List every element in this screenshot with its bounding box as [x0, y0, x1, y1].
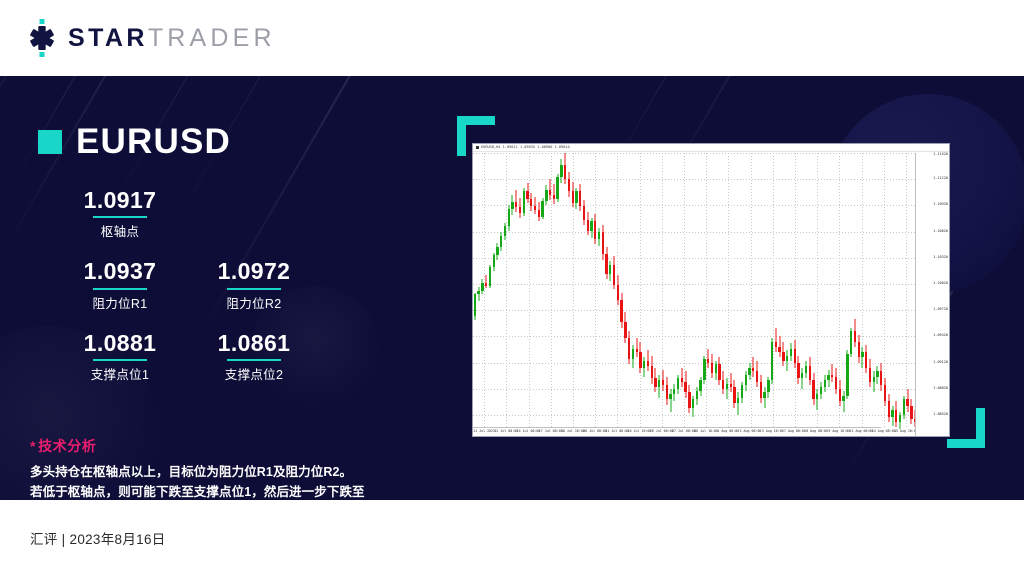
- candlestick: [861, 153, 863, 429]
- candlestick: [760, 153, 762, 429]
- candlestick: [824, 153, 826, 429]
- candlestick: [620, 153, 622, 429]
- level-support-1-value: 1.0881: [84, 330, 157, 356]
- brand-name-light: TRADER: [148, 24, 276, 52]
- candlestick: [594, 153, 596, 429]
- brand-wordmark: STARTRADER: [68, 26, 276, 51]
- level-underline: [93, 288, 147, 290]
- streak-line: [0, 76, 41, 224]
- candlestick: [519, 153, 521, 429]
- candlestick: [609, 153, 611, 429]
- candlestick: [812, 153, 814, 429]
- candlestick: [771, 153, 773, 429]
- candlestick: [481, 153, 483, 429]
- candlestick: [568, 153, 570, 429]
- candlestick: [538, 153, 540, 429]
- star-asterisk-icon: [25, 19, 59, 57]
- instrument-title-row: EURUSD: [38, 124, 433, 159]
- time-tick-label: 20 Jul 00:00: [583, 430, 607, 433]
- level-support-2: 1.0861 支撑点位2: [194, 330, 314, 383]
- candlestick: [884, 153, 886, 429]
- candlestick: [756, 153, 758, 429]
- candlestick: [669, 153, 671, 429]
- time-tick-label: 14 Aug 08:00: [872, 430, 896, 433]
- time-tick-label: 26 Jul 00:00: [650, 430, 674, 433]
- candlestick: [575, 153, 577, 429]
- candlestick: [767, 153, 769, 429]
- candlestick: [699, 153, 701, 429]
- time-tick-label: 14 Jul 00:00: [517, 430, 541, 433]
- support-row: 1.0881 支撑点位1 1.0861 支撑点位2: [60, 330, 433, 383]
- candlestick: [511, 153, 513, 429]
- candlestick: [654, 153, 656, 429]
- candlestick: [707, 153, 709, 429]
- price-tick-label: 1.09120: [933, 361, 948, 365]
- candlestick: [602, 153, 604, 429]
- analysis-line-1: 多头持仓在枢轴点以上，目标位为阻力位R1及阻力位R2。: [30, 462, 430, 482]
- candlestick: [504, 153, 506, 429]
- chart-header: EURUSD,H4 1.09011 1.09035 1.08980 1.0901…: [473, 144, 949, 152]
- price-axis: 1.115201.112201.109201.106201.103201.100…: [915, 153, 949, 436]
- page-footer: 汇评 | 2023年8月16日: [0, 500, 1024, 576]
- candlestick: [658, 153, 660, 429]
- candlestick: [835, 153, 837, 429]
- time-tick-label: 18 Jul 16:00: [561, 430, 585, 433]
- candlestick: [850, 153, 852, 429]
- level-support-2-label: 支撑点位2: [225, 364, 283, 383]
- candlestick: [782, 153, 784, 429]
- candlestick: [598, 153, 600, 429]
- time-tick-label: 8 Aug 08:00: [806, 430, 828, 433]
- candlestick: [790, 153, 792, 429]
- candlestick: [587, 153, 589, 429]
- candlestick: [651, 153, 653, 429]
- chart-body: 11 Jul 202312 Jul 08:0014 Jul 00:0017 Ju…: [473, 153, 949, 436]
- candlestick: [613, 153, 615, 429]
- candlestick: [643, 153, 645, 429]
- level-underline: [93, 216, 147, 218]
- pivot-row: 1.0917 枢轴点: [60, 187, 433, 240]
- time-tick-label: 21 Jul 08:00: [605, 430, 629, 433]
- chart-window[interactable]: EURUSD,H4 1.09011 1.09035 1.08980 1.0901…: [472, 143, 950, 437]
- price-tick-label: 1.10920: [933, 203, 948, 207]
- level-support-1-label: 支撑点位1: [91, 364, 149, 383]
- candlestick: [839, 153, 841, 429]
- candlestick: [752, 153, 754, 429]
- candlestick: [865, 153, 867, 429]
- candlestick: [726, 153, 728, 429]
- candlestick: [858, 153, 860, 429]
- candlestick: [681, 153, 683, 429]
- candlestick: [474, 153, 476, 429]
- level-support-2-value: 1.0861: [218, 330, 291, 356]
- title-accent-square: [38, 130, 62, 154]
- candlestick: [508, 153, 510, 429]
- footer-caption: 汇评 | 2023年8月16日: [30, 528, 166, 548]
- candlestick: [632, 153, 634, 429]
- analysis-body: 多头持仓在枢轴点以上，目标位为阻力位R1及阻力位R2。 若低于枢轴点，则可能下跌…: [30, 462, 430, 500]
- level-resistance-1-label: 阻力位R1: [93, 293, 148, 312]
- candlestick: [477, 153, 479, 429]
- level-resistance-2-label: 阻力位R2: [227, 293, 282, 312]
- time-tick-label: 28 Jul 16:00: [694, 430, 718, 433]
- time-tick-label: 7 Aug 00:00: [784, 430, 806, 433]
- resistance-row: 1.0937 阻力位R1 1.0972 阻力位R2: [60, 258, 433, 311]
- candlestick: [666, 153, 668, 429]
- price-tick-label: 1.08820: [933, 387, 948, 391]
- candlestick-plot[interactable]: 11 Jul 202312 Jul 08:0014 Jul 00:0017 Ju…: [473, 153, 915, 436]
- candlestick: [684, 153, 686, 429]
- candlestick: [880, 153, 882, 429]
- candlestick: [647, 153, 649, 429]
- level-underline: [227, 359, 281, 361]
- time-tick-label: 15 Aug 16:00: [894, 430, 915, 433]
- price-tick-label: 1.10620: [933, 230, 948, 234]
- level-pivot-value: 1.0917: [84, 187, 157, 213]
- instrument-panel: EURUSD 1.0917 枢轴点 1.0937 阻力位R1 1.0972: [38, 124, 433, 383]
- candlestick: [639, 153, 641, 429]
- candlestick: [534, 153, 536, 429]
- price-tick-label: 1.11220: [933, 177, 948, 181]
- pivot-levels: 1.0917 枢轴点 1.0937 阻力位R1 1.0972 阻力位R2: [38, 187, 433, 383]
- price-tick-label: 1.09420: [933, 334, 948, 338]
- level-resistance-2: 1.0972 阻力位R2: [194, 258, 314, 311]
- analysis-heading: *技术分析: [30, 436, 430, 456]
- candlestick: [549, 153, 551, 429]
- candlestick: [673, 153, 675, 429]
- brand-logo[interactable]: STARTRADER: [25, 19, 276, 57]
- chart-title: EURUSD,H4 1.09011 1.09035 1.08980 1.0901…: [481, 146, 570, 150]
- candlestick: [556, 153, 558, 429]
- asterisk-marker: *: [30, 438, 36, 454]
- candlestick: [730, 153, 732, 429]
- price-tick-label: 1.11520: [933, 153, 948, 157]
- candlestick: [545, 153, 547, 429]
- page-header: STARTRADER: [0, 0, 1024, 76]
- level-support-1: 1.0881 支撑点位1: [60, 330, 180, 383]
- candlestick: [722, 153, 724, 429]
- candlestick: [711, 153, 713, 429]
- candlestick: [741, 153, 743, 429]
- candlestick: [778, 153, 780, 429]
- chart-menu-icon[interactable]: [476, 146, 479, 149]
- candlestick: [888, 153, 890, 429]
- candlestick: [910, 153, 912, 429]
- candlestick: [737, 153, 739, 429]
- candlestick: [579, 153, 581, 429]
- candlestick: [854, 153, 856, 429]
- candlestick: [564, 153, 566, 429]
- level-underline: [227, 288, 281, 290]
- candlestick: [794, 153, 796, 429]
- candlestick: [703, 153, 705, 429]
- time-tick-label: 12 Jul 08:00: [494, 430, 518, 433]
- candlestick: [797, 153, 799, 429]
- time-tick-label: 2 Aug 08:00: [740, 430, 762, 433]
- candlestick: [493, 153, 495, 429]
- candlestick: [899, 153, 901, 429]
- candlestick: [786, 153, 788, 429]
- candlestick: [906, 153, 908, 429]
- candlestick: [628, 153, 630, 429]
- time-tick-label: 11 Aug 00:00: [850, 430, 874, 433]
- level-resistance-1: 1.0937 阻力位R1: [60, 258, 180, 311]
- candlestick: [662, 153, 664, 429]
- candlestick: [489, 153, 491, 429]
- candlestick: [748, 153, 750, 429]
- price-tick-label: 1.10320: [933, 256, 948, 260]
- level-resistance-2-value: 1.0972: [218, 258, 291, 284]
- time-tick-label: 3 Aug 16:00: [762, 430, 784, 433]
- candlestick: [605, 153, 607, 429]
- time-tick-label: 24 Jul 16:00: [628, 430, 652, 433]
- candlestick: [733, 153, 735, 429]
- candlestick: [801, 153, 803, 429]
- candlestick: [775, 153, 777, 429]
- candlestick: [809, 153, 811, 429]
- candlestick: [553, 153, 555, 429]
- candlestick: [500, 153, 502, 429]
- candlestick: [617, 153, 619, 429]
- time-tick-label: 9 Aug 16:00: [828, 430, 850, 433]
- level-resistance-1-value: 1.0937: [84, 258, 157, 284]
- candlestick: [523, 153, 525, 429]
- time-tick-label: 27 Jul 08:00: [672, 430, 696, 433]
- candlestick: [624, 153, 626, 429]
- candlestick: [842, 153, 844, 429]
- time-tick-label: 11 Jul 2023: [473, 430, 495, 433]
- candlestick: [820, 153, 822, 429]
- candlestick: [715, 153, 717, 429]
- candlestick: [816, 153, 818, 429]
- corner-bracket-bottom-right: [947, 408, 985, 448]
- candlestick: [692, 153, 694, 429]
- candlestick: [891, 153, 893, 429]
- candlestick: [805, 153, 807, 429]
- price-tick-label: 1.09720: [933, 308, 948, 312]
- candlestick: [763, 153, 765, 429]
- price-tick-label: 1.08520: [933, 413, 948, 417]
- candlestick: [696, 153, 698, 429]
- candlestick: [496, 153, 498, 429]
- candlestick: [831, 153, 833, 429]
- candlestick: [636, 153, 638, 429]
- level-pivot: 1.0917 枢轴点: [60, 187, 180, 240]
- price-tick-label: 1.10020: [933, 282, 948, 286]
- candlestick: [869, 153, 871, 429]
- candlestick: [873, 153, 875, 429]
- candlestick: [827, 153, 829, 429]
- candlestick: [485, 153, 487, 429]
- level-pivot-label: 枢轴点: [101, 221, 139, 240]
- candlestick: [583, 153, 585, 429]
- time-tick-label: 17 Jul 08:00: [539, 430, 563, 433]
- analysis-heading-text: 技术分析: [38, 438, 96, 454]
- analysis-line-2: 若低于枢轴点，则可能下跌至支撑点位1，然后进一步下跌至: [30, 482, 430, 500]
- technical-analysis: *技术分析 多头持仓在枢轴点以上，目标位为阻力位R1及阻力位R2。 若低于枢轴点…: [30, 436, 430, 500]
- level-underline: [93, 359, 147, 361]
- candlestick: [560, 153, 562, 429]
- main-stage: EURUSD 1.0917 枢轴点 1.0937 阻力位R1 1.0972: [0, 76, 1024, 500]
- page-title: EURUSD: [76, 124, 231, 159]
- candlestick: [572, 153, 574, 429]
- candlestick: [745, 153, 747, 429]
- candlestick: [895, 153, 897, 429]
- candlestick: [526, 153, 528, 429]
- candlestick: [688, 153, 690, 429]
- brand-name-bold: STAR: [68, 24, 148, 52]
- candlestick: [903, 153, 905, 429]
- candlestick: [846, 153, 848, 429]
- candlestick: [718, 153, 720, 429]
- candlestick: [677, 153, 679, 429]
- candlestick: [876, 153, 878, 429]
- candlestick: [515, 153, 517, 429]
- candlestick: [590, 153, 592, 429]
- time-tick-label: 1 Aug 00:00: [717, 430, 739, 433]
- candlestick: [541, 153, 543, 429]
- candlestick: [530, 153, 532, 429]
